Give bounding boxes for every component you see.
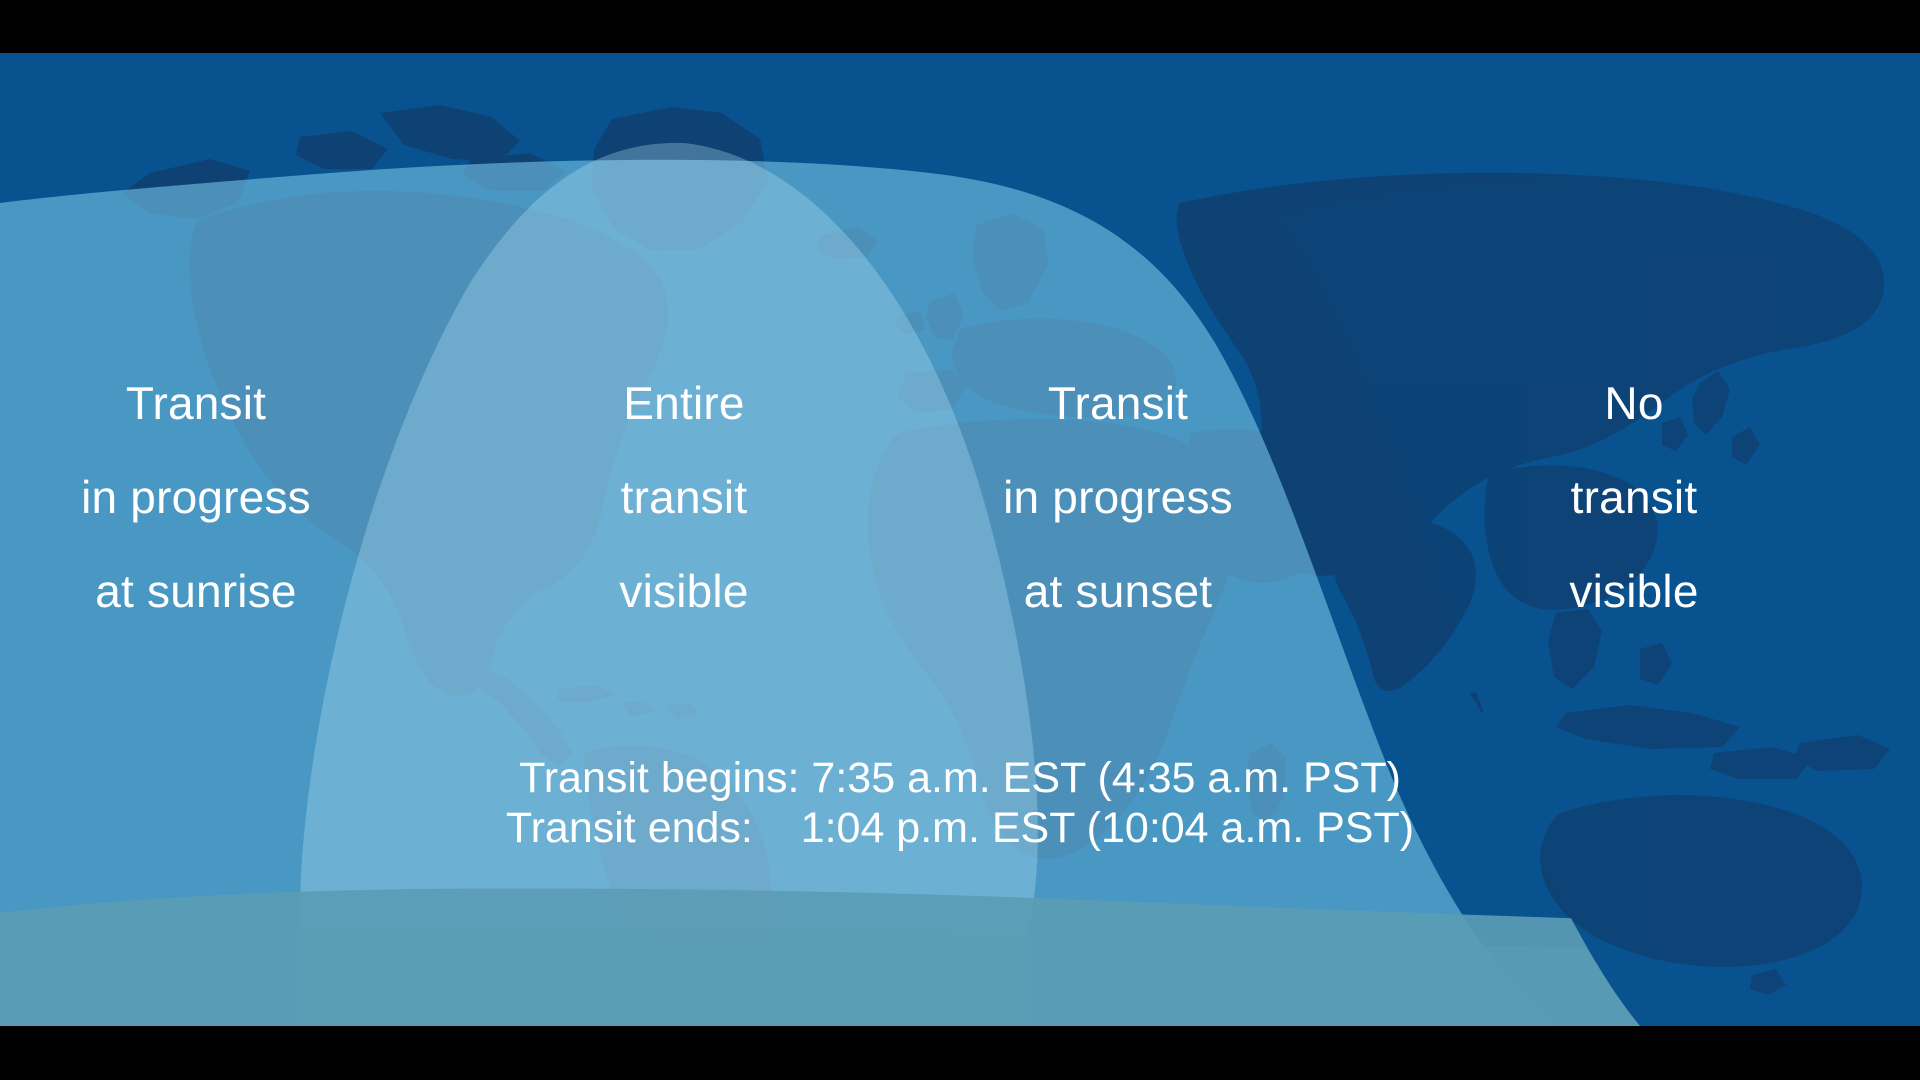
world-map: [0, 53, 1920, 1026]
letterbox-bar-top: [0, 0, 1920, 53]
letterbox-bar-bottom: [0, 1026, 1920, 1080]
transit-visibility-figure: Transit in progress at sunrise Entire tr…: [0, 0, 1920, 1080]
map-svg: [0, 53, 1920, 1026]
